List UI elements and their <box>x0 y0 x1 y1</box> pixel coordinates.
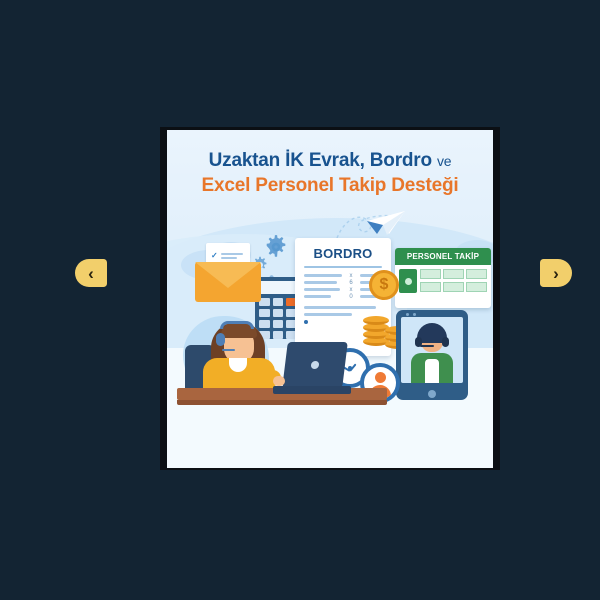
carousel-next-button[interactable]: › <box>540 259 572 287</box>
payslip-mark: 6 <box>349 281 352 285</box>
person-icon <box>399 269 417 293</box>
check-icon: ✓ <box>211 252 218 259</box>
headset-icon <box>442 337 449 347</box>
agent-hand <box>273 376 285 386</box>
video-call-screen <box>401 317 463 383</box>
camera-icon <box>406 313 409 316</box>
table-cell <box>443 282 464 292</box>
tablet-video-call[interactable] <box>396 310 468 400</box>
microphone-icon <box>420 345 434 347</box>
microphone-icon <box>222 349 235 351</box>
headset-icon <box>220 321 254 329</box>
personel-takip-title: PERSONEL TAKİP <box>395 248 491 265</box>
desk-edge <box>177 400 387 405</box>
table-cell <box>420 269 441 279</box>
laptop-screen <box>282 342 348 388</box>
personel-takip-panel: PERSONEL TAKİP <box>395 248 491 308</box>
payslip-mark: x <box>350 274 353 278</box>
envelope-icon <box>195 262 261 302</box>
payslip-mark: 0 <box>349 295 352 299</box>
heading-line-2: Excel Personel Takip Desteği <box>167 175 493 197</box>
paper-airplane-icon <box>365 210 407 236</box>
speaker-icon <box>413 313 416 316</box>
table-cell <box>466 282 487 292</box>
chevron-right-icon: › <box>553 265 559 282</box>
heading-line-1: Uzaktan İK Evrak, Bordro ve <box>167 150 493 172</box>
carousel-prev-button[interactable]: ‹ <box>75 259 107 287</box>
slide-card[interactable]: Uzaktan İK Evrak, Bordro ve Excel Person… <box>167 130 493 468</box>
headset-earpiece-icon <box>216 333 225 346</box>
slide-heading: Uzaktan İK Evrak, Bordro ve Excel Person… <box>167 150 493 197</box>
tracking-table <box>420 269 487 293</box>
dollar-coin-icon: $ <box>369 270 399 300</box>
chevron-left-icon: ‹ <box>88 265 94 282</box>
home-button-icon[interactable] <box>428 390 436 398</box>
table-cell <box>466 269 487 279</box>
carousel-slide-viewer: ‹ › Uzaktan İK Evrak, Bordro ve Excel Pe… <box>0 0 600 600</box>
table-cell <box>420 282 441 292</box>
laptop-base <box>273 386 351 394</box>
table-cell <box>443 269 464 279</box>
payslip-title: BORDRO <box>304 246 382 261</box>
payslip-mark: x <box>350 288 353 292</box>
